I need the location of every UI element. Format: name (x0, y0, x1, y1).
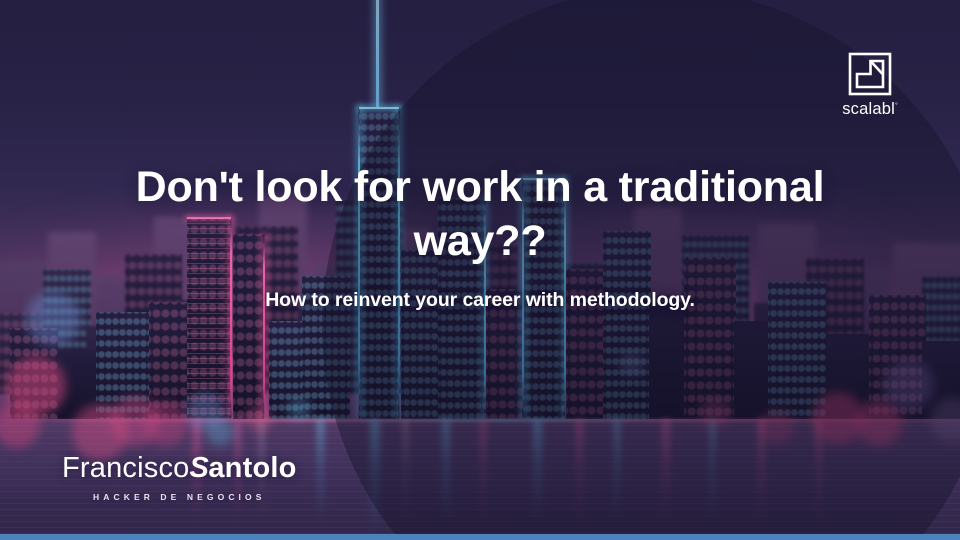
scalabl-wordmark: scalabl° (842, 101, 898, 118)
signature-name: FranciscoSantolo (62, 454, 297, 483)
signature-name-accent: S (190, 452, 209, 484)
signature-name-prefix: Francisco (62, 452, 190, 484)
scalabl-square-mark (848, 52, 892, 96)
presentation-slide: scalabl° Don't look for work in a tradit… (0, 0, 960, 540)
scalabl-logo[interactable]: scalabl° (824, 52, 916, 118)
tower-spire (376, 0, 379, 107)
francisco-santolo-logo[interactable]: FranciscoSantolo HACKER DE NEGOCIOS (62, 454, 297, 502)
headline-block: Don't look for work in a traditional way… (0, 160, 960, 314)
page-subtitle: How to reinvent your career with methodo… (120, 288, 840, 313)
page-title: Don't look for work in a traditional way… (120, 160, 840, 268)
scalabl-wordmark-text: scalabl (842, 100, 895, 118)
signature-name-tail: antolo (208, 452, 296, 484)
signature-tagline: HACKER DE NEGOCIOS (62, 492, 297, 502)
bottom-accent-bar (0, 534, 960, 540)
scalabl-trademark: ° (895, 103, 898, 110)
